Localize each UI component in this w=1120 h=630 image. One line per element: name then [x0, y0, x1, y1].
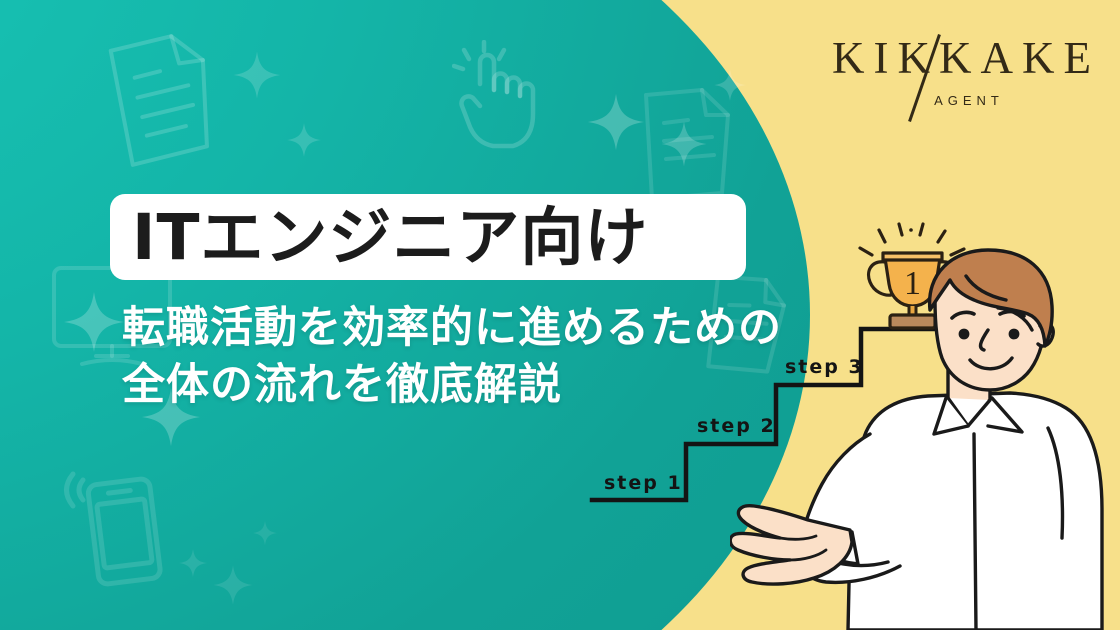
step-1-label: step 1: [604, 472, 683, 494]
promo-banner: KIKKAKE AGENT ITエンジニア向け 転職活動を効率的に進めるための …: [0, 0, 1120, 630]
smiling-man-illustration: [730, 248, 1120, 630]
